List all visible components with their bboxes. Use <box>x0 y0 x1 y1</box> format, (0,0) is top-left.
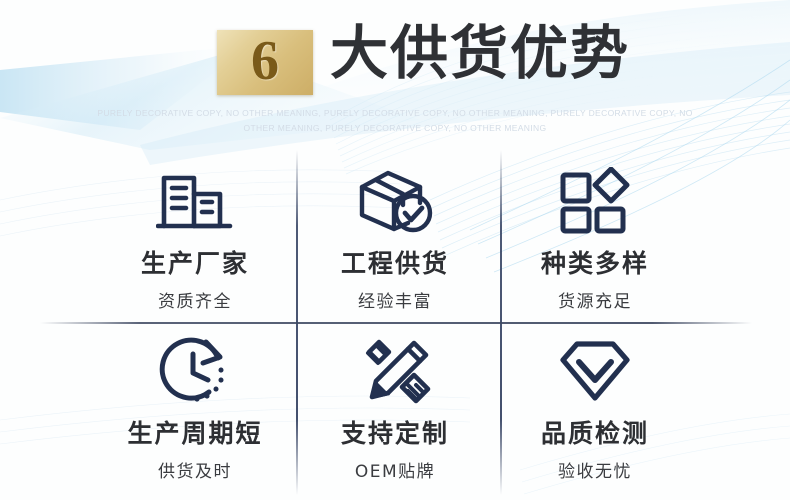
number-badge: 6 <box>217 30 313 95</box>
decorative-subtitle: PURELY DECORATIVE COPY, NO OTHER MEANING… <box>95 106 695 136</box>
feature-subtitle: 经验丰富 <box>358 287 432 312</box>
feature-title: 生产厂家 <box>141 250 249 278</box>
header: 6 大供货优势 PURELY DECORATIVE COPY, NO OTHER… <box>0 0 790 140</box>
feature-cell-customization: 支持定制 OEM贴牌 <box>295 320 495 490</box>
feature-title: 生产周期短 <box>127 420 262 448</box>
feature-title: 支持定制 <box>341 420 449 448</box>
feature-cell-quality-check: 品质检测 验收无忧 <box>495 320 695 490</box>
feature-subtitle: 验收无忧 <box>558 457 632 482</box>
shapes-variety-icon <box>557 164 633 238</box>
factory-building-icon <box>156 164 234 238</box>
feature-subtitle: 资质齐全 <box>158 287 232 312</box>
feature-cell-short-lead-time: 生产周期短 供货及时 <box>95 320 295 490</box>
feature-subtitle: 供货及时 <box>158 457 232 482</box>
clock-arrow-icon <box>157 334 233 408</box>
feature-title: 工程供货 <box>341 250 449 278</box>
package-box-check-icon <box>354 164 436 238</box>
feature-subtitle: 货源充足 <box>558 287 632 312</box>
page-title: 大供货优势 <box>330 24 630 82</box>
feature-title: 品质检测 <box>541 420 649 448</box>
feature-title: 种类多样 <box>541 250 649 278</box>
feature-grid: 生产厂家 资质齐全 工程供货 经验丰富 <box>95 150 695 490</box>
pencil-ruler-icon <box>356 334 434 408</box>
diamond-check-icon <box>555 334 635 408</box>
feature-cell-factory: 生产厂家 资质齐全 <box>95 150 295 320</box>
feature-cell-variety: 种类多样 货源充足 <box>495 150 695 320</box>
feature-cell-engineering-supply: 工程供货 经验丰富 <box>295 150 495 320</box>
promo-banner: 6 大供货优势 PURELY DECORATIVE COPY, NO OTHER… <box>0 0 790 500</box>
feature-subtitle: OEM贴牌 <box>355 457 435 482</box>
badge-number: 6 <box>251 33 279 89</box>
